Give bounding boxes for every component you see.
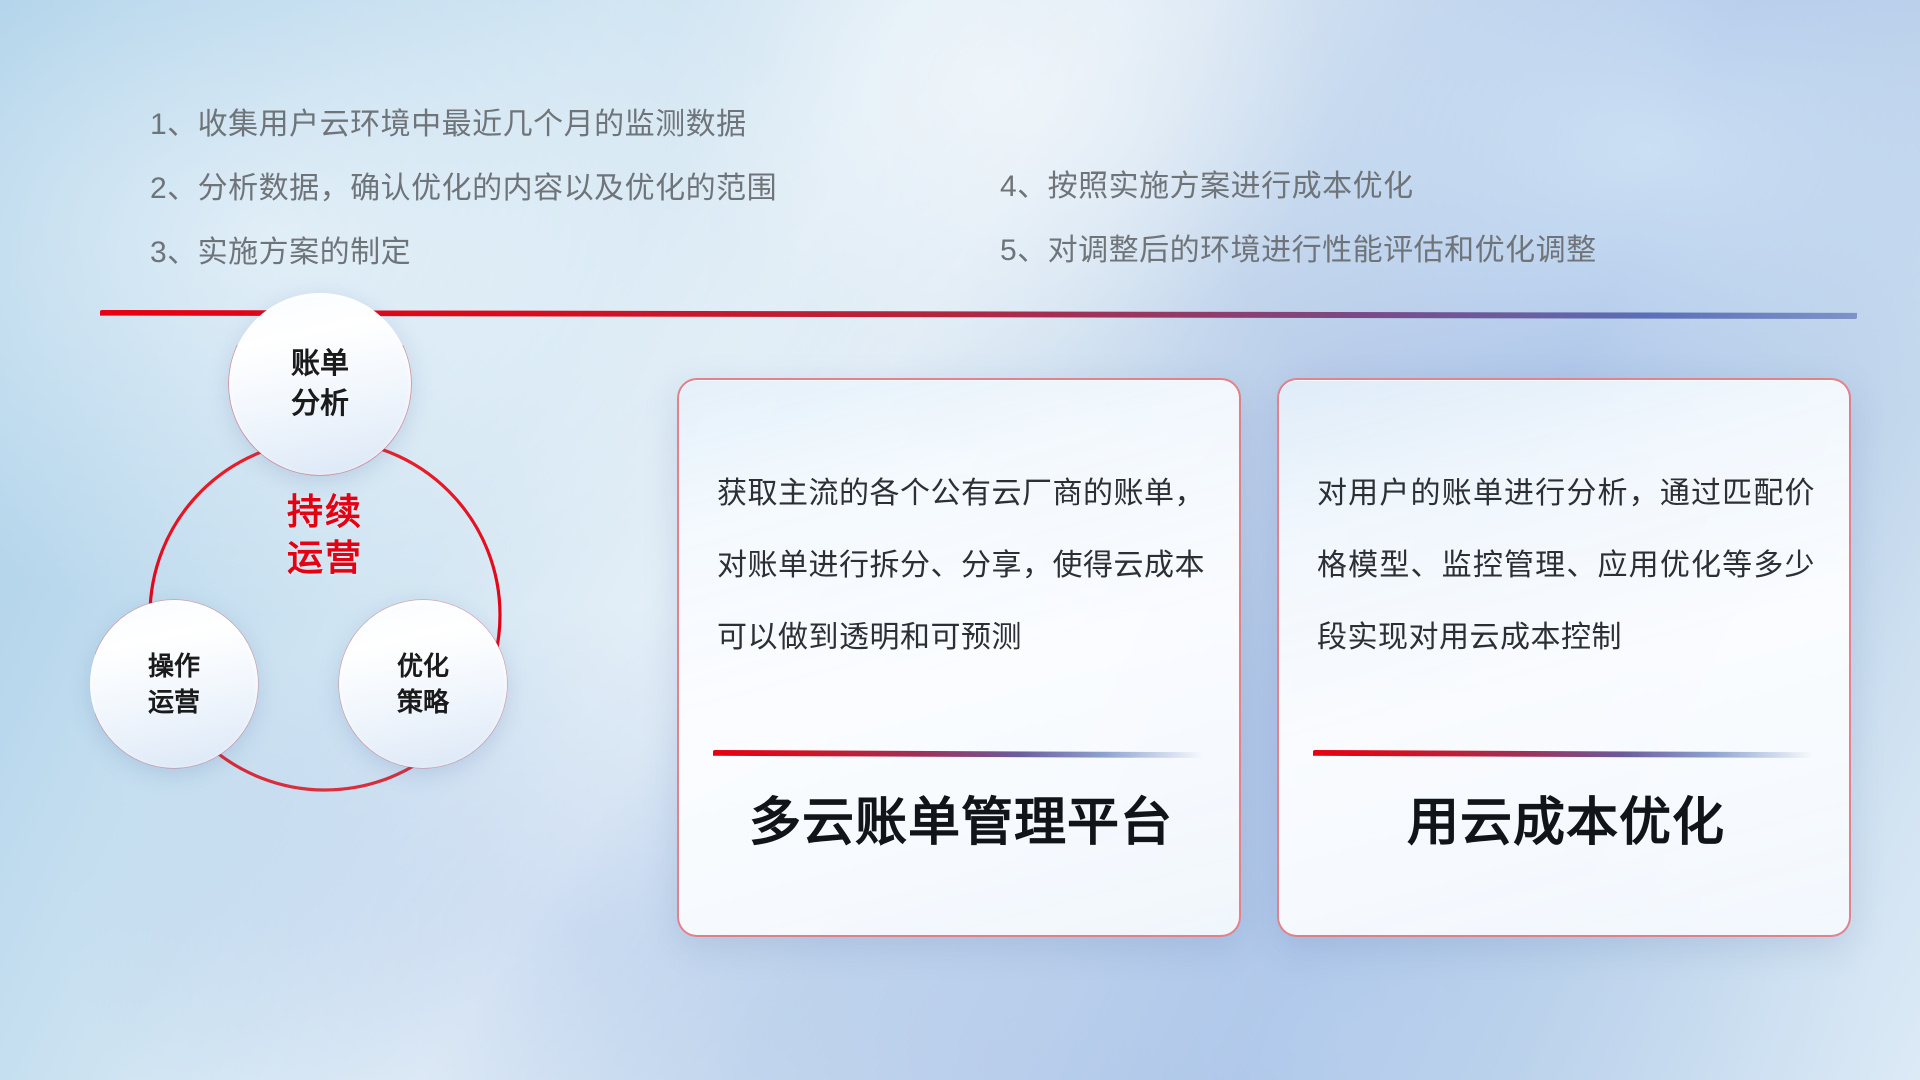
step-item-4: 4、按照实施方案进行成本优化: [1000, 155, 1760, 219]
steps-list-right: 4、按照实施方案进行成本优化 5、对调整后的环境进行性能评估和优化调整: [1000, 155, 1760, 283]
diagram-bubble-billing-analysis[interactable]: 账单 分析: [229, 293, 411, 475]
card-accent-bar: [1313, 750, 1813, 758]
card-body-text: 获取主流的各个公有云厂商的账单，对账单进行拆分、分享，使得云成本可以做到透明和可…: [717, 458, 1205, 674]
step-item-3: 3、实施方案的制定: [150, 221, 850, 285]
card-title: 多云账单管理平台: [713, 790, 1209, 856]
step-item-5: 5、对调整后的环境进行性能评估和优化调整: [1000, 219, 1760, 283]
feature-card-multicloud-billing[interactable]: 获取主流的各个公有云厂商的账单，对账单进行拆分、分享，使得云成本可以做到透明和可…: [677, 378, 1241, 937]
continuous-operation-diagram: 账单 分析 操作 运营 优化 策略 持续 运营: [95, 345, 555, 905]
step-item-1: 1、收集用户云环境中最近几个月的监测数据: [150, 93, 850, 157]
slide-content: 1、收集用户云环境中最近几个月的监测数据 2、分析数据，确认优化的内容以及优化的…: [0, 0, 1920, 1080]
card-title: 用云成本优化: [1313, 790, 1819, 856]
diagram-bubble-optimization-strategy[interactable]: 优化 策略: [339, 600, 507, 768]
bubble-label-line1: 优化: [397, 648, 449, 684]
card-body-text: 对用户的账单进行分析，通过匹配价格模型、监控管理、应用优化等多少段实现对用云成本…: [1317, 458, 1815, 674]
step-item-2: 2、分析数据，确认优化的内容以及优化的范围: [150, 157, 850, 221]
bubble-label-line1: 操作: [148, 648, 200, 684]
bubble-label-line1: 账单: [291, 344, 349, 384]
bubble-label-line2: 运营: [148, 684, 200, 720]
diagram-bubble-operation-management[interactable]: 操作 运营: [90, 600, 258, 768]
bubble-label-line2: 策略: [397, 684, 449, 720]
diagram-center-label: 持续 运营: [225, 489, 425, 581]
bubble-label-line2: 分析: [291, 384, 349, 424]
center-label-line1: 持续: [225, 489, 425, 535]
center-label-line2: 运营: [225, 535, 425, 581]
steps-list-left: 1、收集用户云环境中最近几个月的监测数据 2、分析数据，确认优化的内容以及优化的…: [150, 93, 850, 285]
feature-card-cloud-cost-optimization[interactable]: 对用户的账单进行分析，通过匹配价格模型、监控管理、应用优化等多少段实现对用云成本…: [1277, 378, 1851, 937]
card-accent-bar: [713, 750, 1203, 758]
